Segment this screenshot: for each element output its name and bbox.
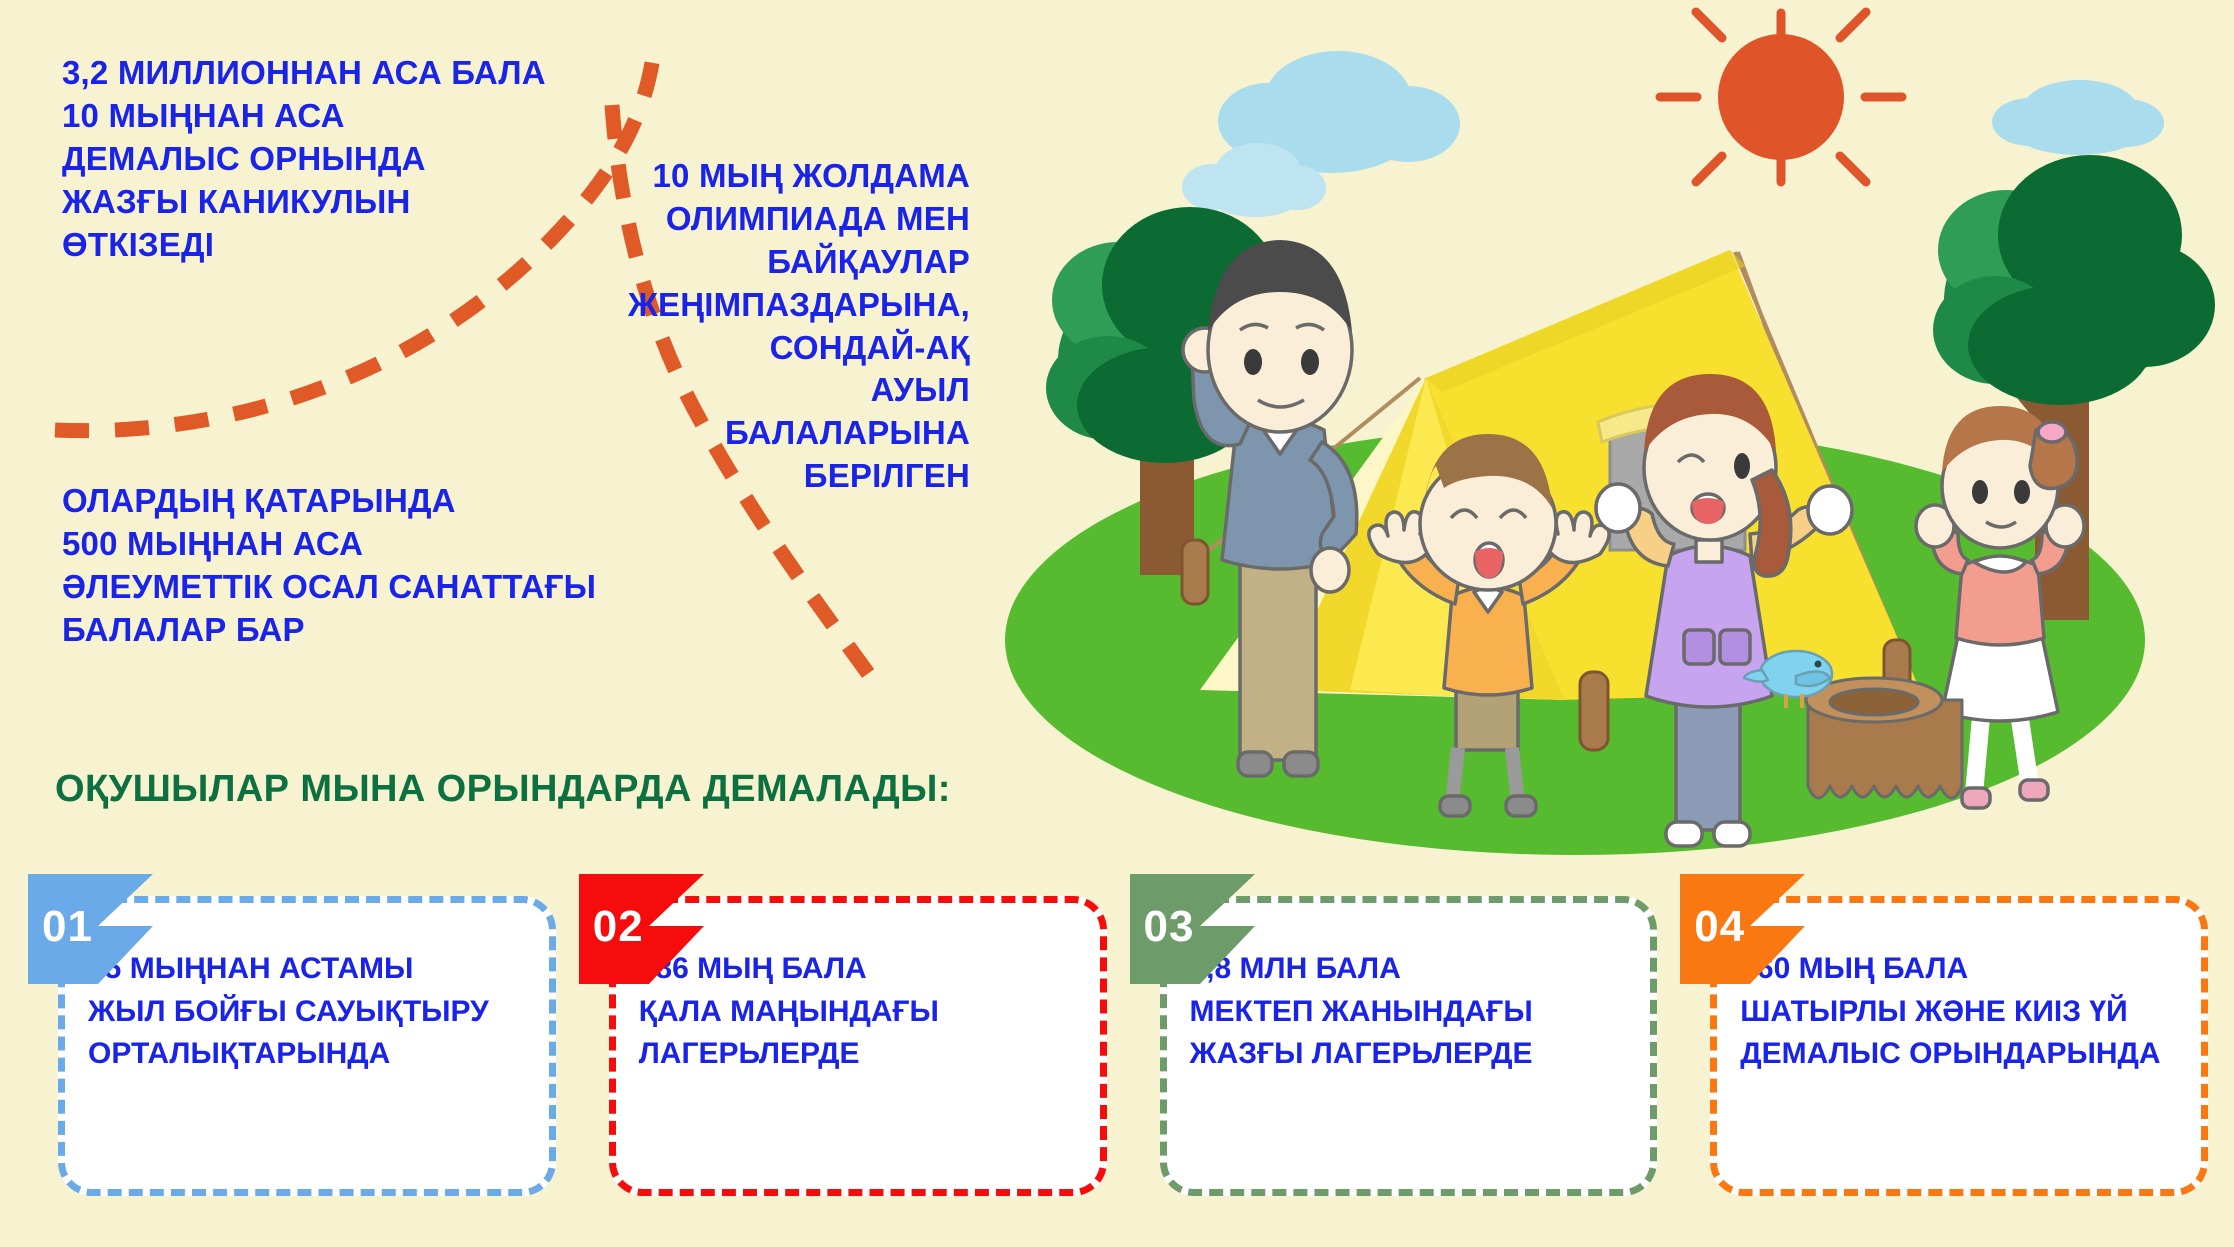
card-03[interactable]: 03 2,8 МЛН БАЛА МЕКТЕП ЖАНЫНДАҒЫ ЖАЗҒЫ Л… <box>1130 896 1658 1196</box>
stat-main-text: 3,2 МИЛЛИОННАН АСА БАЛА 10 МЫҢНАН АСА ДЕ… <box>62 52 582 266</box>
character-boy <box>1369 434 1609 816</box>
tent-window <box>1598 400 1758 550</box>
card-04[interactable]: 04 160 МЫҢ БАЛА ШАТЫРЛЫ ЖӘНЕ КИІЗ ҮЙ ДЕМ… <box>1680 896 2208 1196</box>
cloud-large <box>1218 51 1460 173</box>
stat-vulnerable-text: ОЛАРДЫҢ ҚАТАРЫНДА 500 МЫҢНАН АСА ӘЛЕУМЕТ… <box>62 480 622 652</box>
blue-bird <box>1744 651 1832 708</box>
cloud-right <box>1992 80 2164 155</box>
cards-row: 01 15 МЫҢНАН АСТАМЫ ЖЫЛ БОЙҒЫ САУЫҚТЫРУ … <box>28 872 2208 1212</box>
tree-left <box>1046 207 1315 575</box>
cloud-small <box>1182 143 1326 217</box>
card-01-number: 01 <box>42 902 93 952</box>
card-02-number: 02 <box>593 902 644 952</box>
character-mother <box>1596 374 1852 846</box>
card-03-text: 2,8 МЛН БАЛА МЕКТЕП ЖАНЫНДАҒЫ ЖАЗҒЫ ЛАГЕ… <box>1190 948 1634 1076</box>
camping-tent <box>1182 250 1920 750</box>
character-girl <box>1916 406 2084 808</box>
tree-stump <box>1806 678 1962 798</box>
tree-right <box>1933 155 2215 620</box>
card-01-text: 15 МЫҢНАН АСТАМЫ ЖЫЛ БОЙҒЫ САУЫҚТЫРУ ОРТ… <box>88 948 532 1076</box>
card-04-text: 160 МЫҢ БАЛА ШАТЫРЛЫ ЖӘНЕ КИІЗ ҮЙ ДЕМАЛЫ… <box>1740 948 2184 1076</box>
card-01[interactable]: 01 15 МЫҢНАН АСТАМЫ ЖЫЛ БОЙҒЫ САУЫҚТЫРУ … <box>28 896 556 1196</box>
grass-ground <box>1005 425 2145 855</box>
sun-icon <box>1660 12 1902 182</box>
card-04-number: 04 <box>1694 902 1745 952</box>
character-father <box>1183 240 1357 776</box>
tent-pegs <box>1182 540 1910 750</box>
section-heading: ОҚУШЫЛАР МЫНА ОРЫНДАРДА ДЕМАЛАДЫ: <box>55 768 951 811</box>
infographic-canvas: 3,2 МИЛЛИОННАН АСА БАЛА 10 МЫҢНАН АСА ДЕ… <box>0 0 2234 1247</box>
card-02[interactable]: 02 186 МЫҢ БАЛА ҚАЛА МАҢЫНДАҒЫ ЛАГЕРЬЛЕР… <box>579 896 1107 1196</box>
stat-vouchers-text: 10 МЫҢ ЖОЛДАМА ОЛИМПИАДА МЕН БАЙҚАУЛАР Ж… <box>620 155 970 498</box>
card-02-text: 186 МЫҢ БАЛА ҚАЛА МАҢЫНДАҒЫ ЛАГЕРЬЛЕРДЕ <box>639 948 1083 1076</box>
card-03-number: 03 <box>1144 902 1195 952</box>
